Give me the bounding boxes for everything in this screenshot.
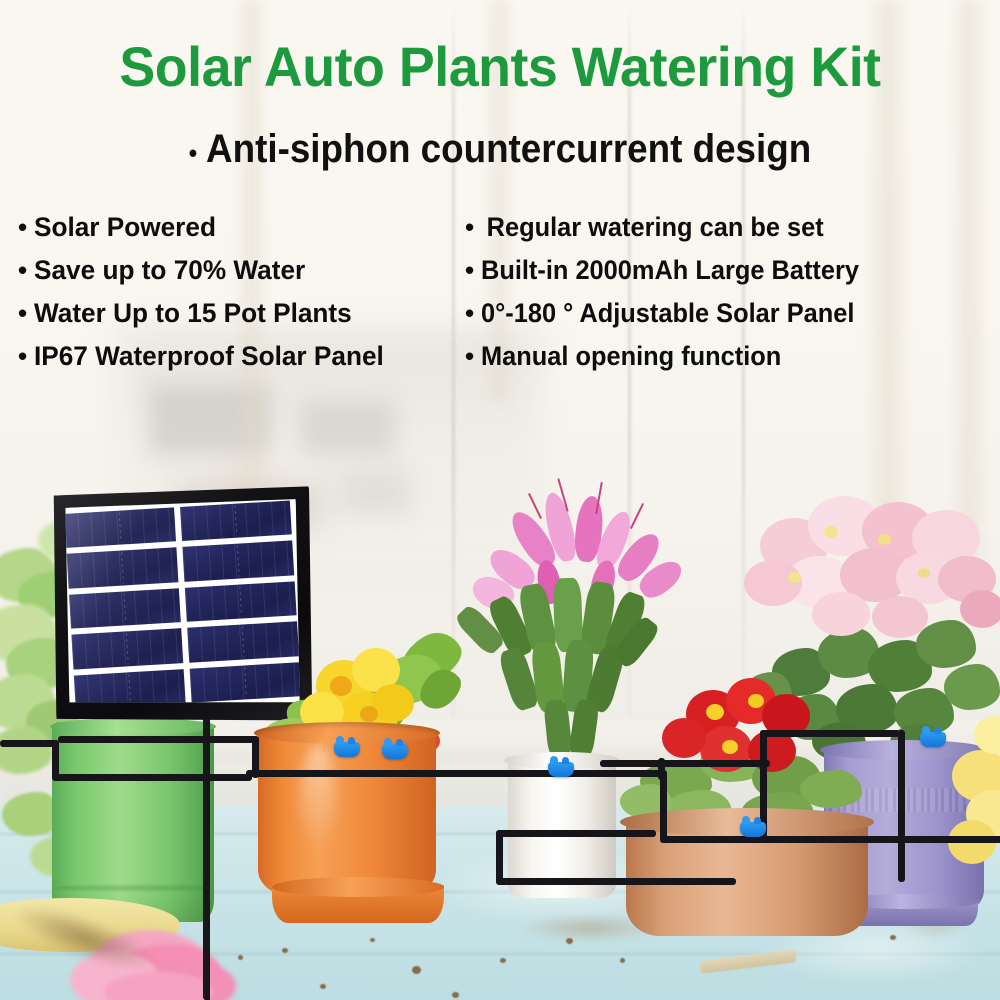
bullet-icon: • <box>18 343 34 369</box>
feature-item: • Built-in 2000mAh Large Battery <box>465 255 1000 298</box>
bullet-icon: • <box>189 138 197 168</box>
feature-item: • 0°-180 ° Adjustable Solar Panel <box>465 298 1000 341</box>
feature-item: • Water Up to 15 Pot Plants <box>18 298 455 341</box>
bullet-icon: • <box>465 214 481 240</box>
marketing-text-overlay: Solar Auto Plants Watering Kit • Anti-si… <box>0 0 1000 1000</box>
feature-label: Manual opening function <box>481 341 781 372</box>
bullet-icon: • <box>18 257 34 283</box>
feature-label: Regular watering can be set <box>481 212 824 243</box>
feature-column-right: • Regular watering can be set • Built-in… <box>455 212 1000 384</box>
feature-item: • IP67 Waterproof Solar Panel <box>18 341 455 384</box>
feature-item: • Regular watering can be set <box>465 212 1000 255</box>
feature-label: Built-in 2000mAh Large Battery <box>481 255 859 286</box>
product-infographic: Solar Auto Plants Watering Kit • Anti-si… <box>0 0 1000 1000</box>
feature-label: Water Up to 15 Pot Plants <box>34 298 352 329</box>
feature-columns: • Solar Powered • Save up to 70% Water •… <box>0 212 1000 384</box>
bullet-icon: • <box>465 257 481 283</box>
feature-column-left: • Solar Powered • Save up to 70% Water •… <box>0 212 455 384</box>
feature-label: Save up to 70% Water <box>34 255 305 286</box>
feature-label: 0°-180 ° Adjustable Solar Panel <box>481 298 854 329</box>
page-title: Solar Auto Plants Watering Kit <box>20 38 980 97</box>
feature-item: • Save up to 70% Water <box>18 255 455 298</box>
feature-item: • Manual opening function <box>465 341 1000 384</box>
bullet-icon: • <box>18 214 34 240</box>
subtitle-row: • Anti-siphon countercurrent design <box>40 127 960 172</box>
subtitle-text: Anti-siphon countercurrent design <box>206 127 811 171</box>
bullet-icon: • <box>18 300 34 326</box>
bullet-icon: • <box>465 300 481 326</box>
bullet-icon: • <box>465 343 481 369</box>
feature-label: Solar Powered <box>34 212 216 243</box>
feature-item: • Solar Powered <box>18 212 455 255</box>
feature-label: IP67 Waterproof Solar Panel <box>34 341 384 372</box>
